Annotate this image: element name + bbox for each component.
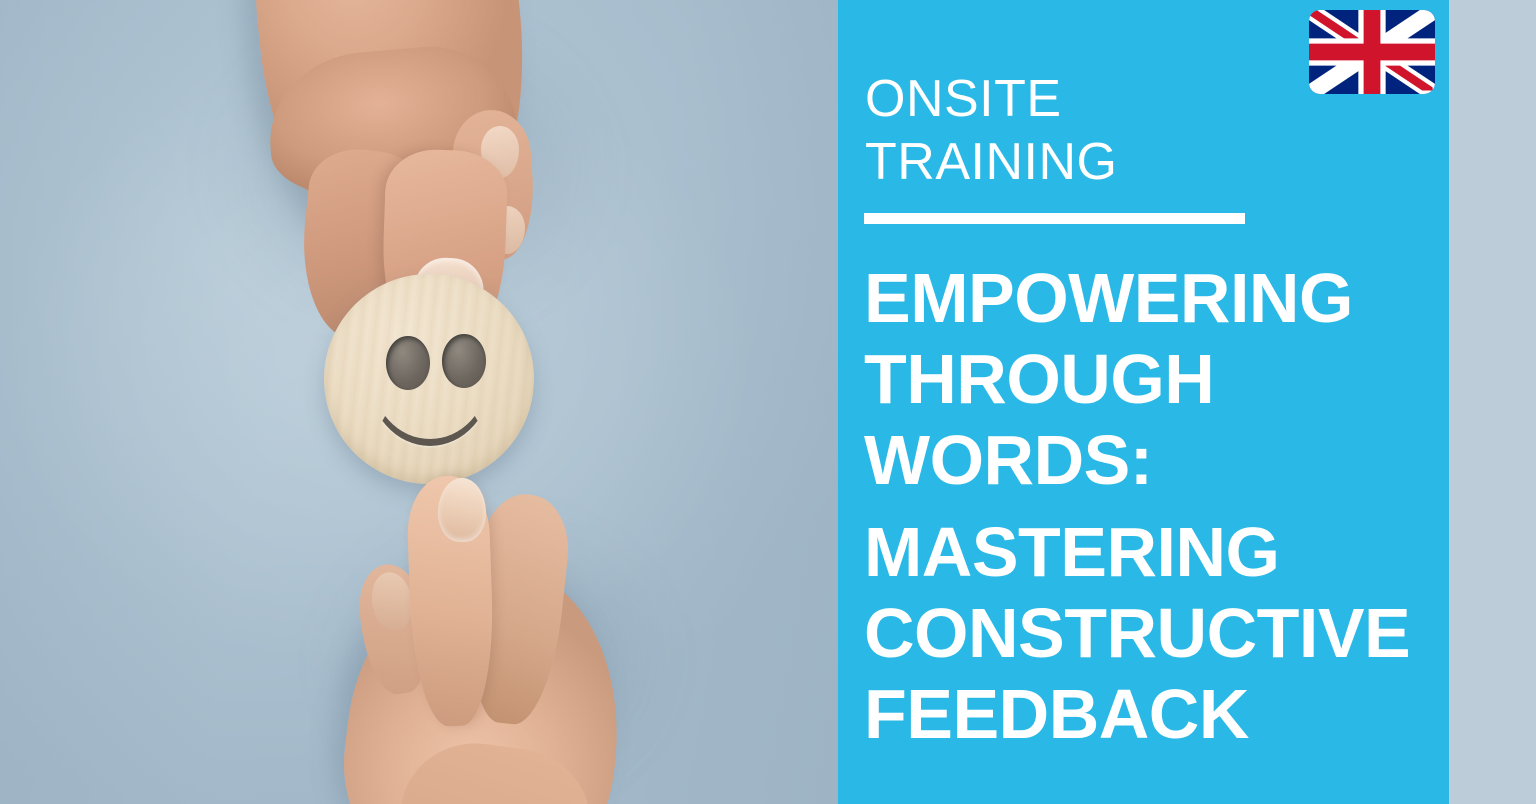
poster-subheadline: MASTERING CONSTRUCTIVE FEEDBACK bbox=[864, 512, 1410, 755]
divider-rule bbox=[864, 213, 1245, 224]
right-background-strip bbox=[1449, 0, 1536, 804]
text-panel: ONSITE TRAINING EMPOWERING THROUGH WORDS… bbox=[838, 0, 1449, 804]
poster-headline: EMPOWERING THROUGH WORDS: bbox=[864, 258, 1353, 501]
smiley-mouth bbox=[368, 376, 492, 446]
hand-from-above-icon bbox=[243, 0, 543, 320]
union-jack-flag-icon bbox=[1309, 10, 1435, 94]
training-course-poster: ONSITE TRAINING EMPOWERING THROUGH WORDS… bbox=[0, 0, 1536, 804]
hero-photo bbox=[0, 0, 838, 804]
lower-hand-thumbnail bbox=[438, 478, 486, 542]
poster-kicker: ONSITE TRAINING bbox=[865, 68, 1117, 194]
hand-from-below-icon bbox=[338, 446, 648, 804]
